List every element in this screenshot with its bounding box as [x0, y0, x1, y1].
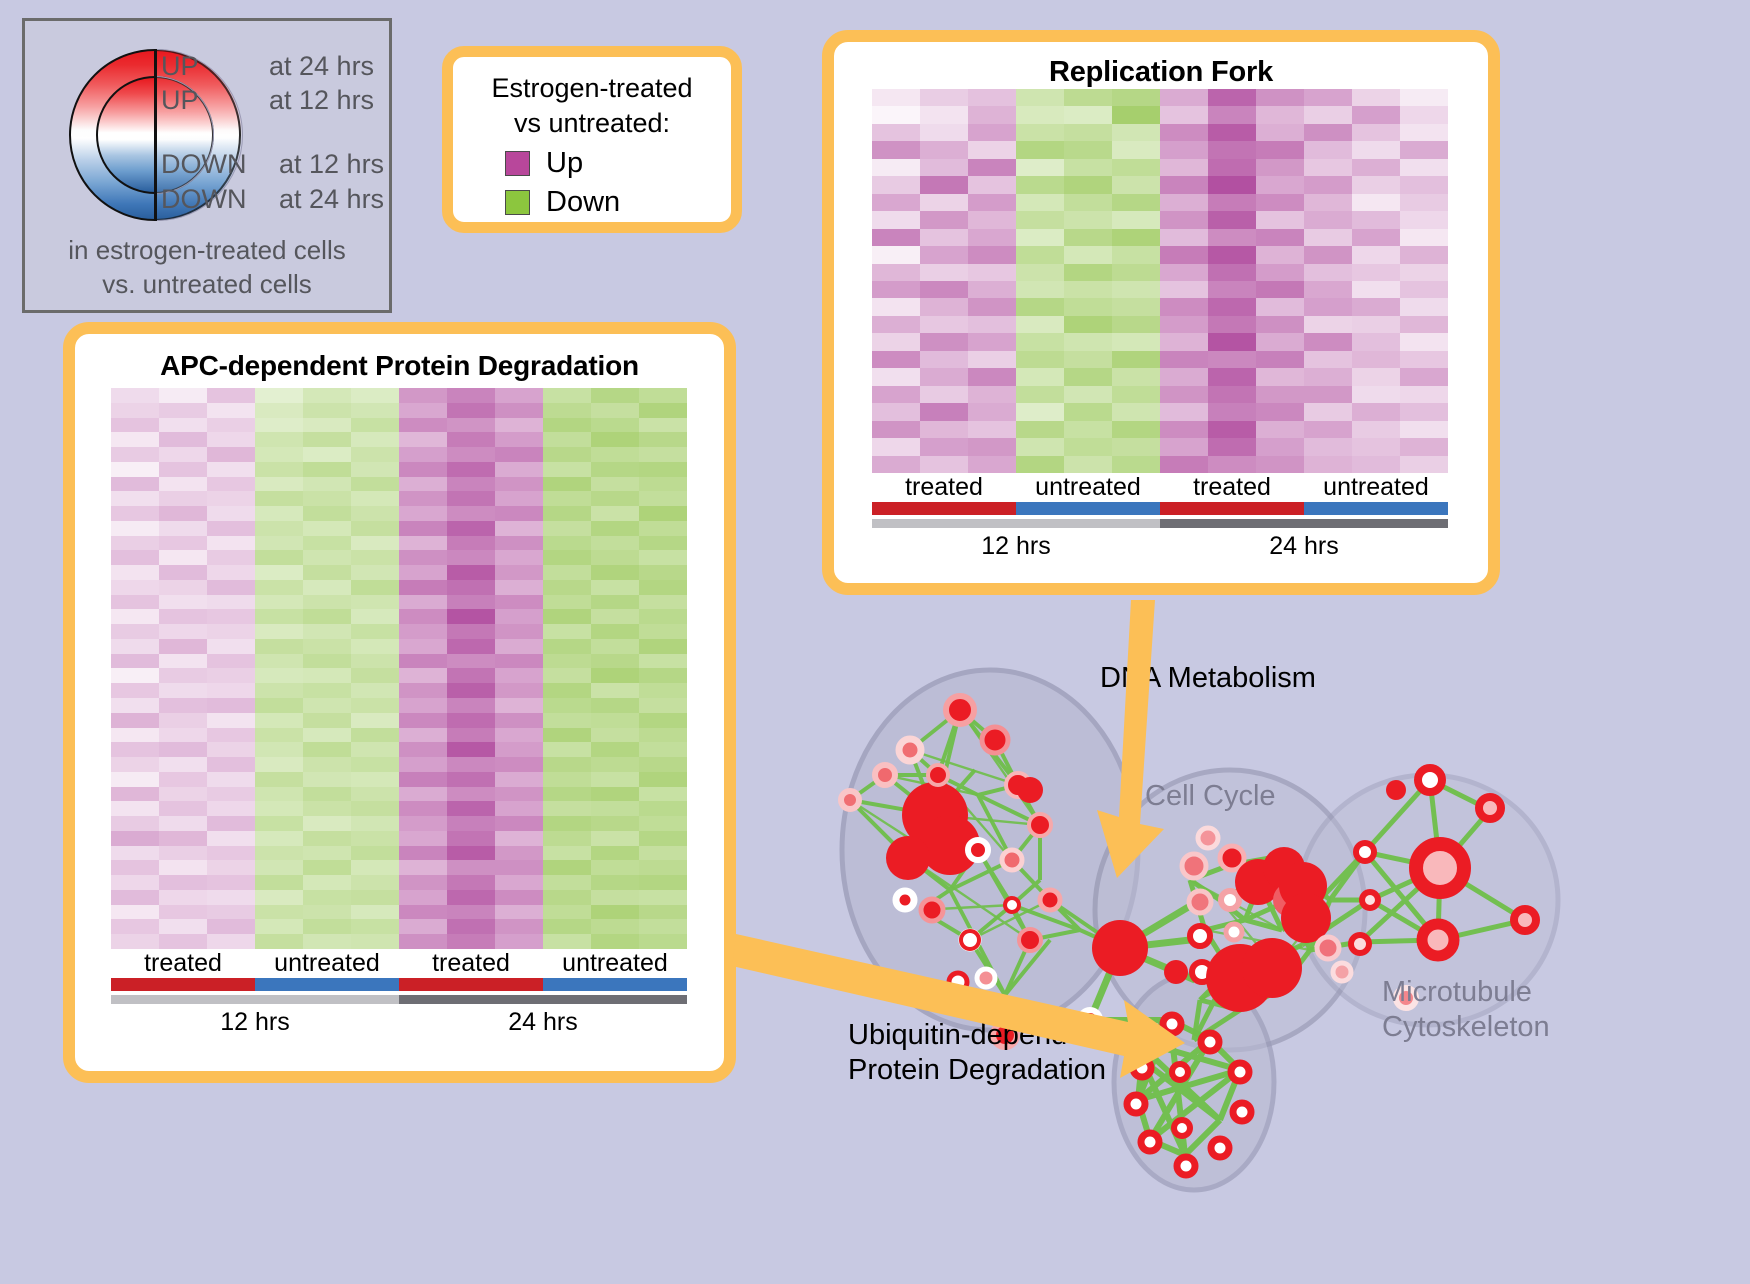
heatmap-cell	[968, 351, 1016, 368]
heatmap-cell	[591, 447, 639, 462]
heatmap-cell	[1064, 316, 1112, 333]
heatmap-cell	[255, 477, 303, 492]
heatmap-cell	[1112, 89, 1160, 106]
panel-apc-dependent-protein-degradation: APC-dependent Protein Degradation treate…	[63, 322, 736, 1083]
heatmap-cell	[111, 846, 159, 861]
heatmap-cell	[207, 742, 255, 757]
cluster-label-microtubule-line1: Microtubule	[1382, 975, 1550, 1010]
heatmap-cell	[399, 698, 447, 713]
heatmap-cell	[1256, 246, 1304, 263]
heatmap-cell	[447, 536, 495, 551]
heatmap-cell	[1304, 264, 1352, 281]
heatmap-cell	[207, 787, 255, 802]
heatmap-cell	[1064, 211, 1112, 228]
heatmap-cell	[1208, 264, 1256, 281]
heatmap-cell	[303, 757, 351, 772]
heatmap-cell	[207, 418, 255, 433]
heatmap-cell	[111, 491, 159, 506]
heatmap-cell	[447, 801, 495, 816]
heatmap-cell	[543, 698, 591, 713]
heatmap-cell	[639, 506, 687, 521]
heatmap-cell	[1352, 368, 1400, 385]
heatmap-cell	[543, 418, 591, 433]
heatmap-cell	[639, 890, 687, 905]
heatmap-cell	[968, 141, 1016, 158]
heatmap-cell	[495, 580, 543, 595]
heatmap-cell	[447, 654, 495, 669]
heatmap-cell	[111, 831, 159, 846]
heatmap-cell	[351, 698, 399, 713]
heatmap-cell	[351, 668, 399, 683]
heatmap-cell	[639, 846, 687, 861]
heatmap-cell	[872, 316, 920, 333]
heatmap-cell	[399, 713, 447, 728]
heatmap-cell	[1160, 176, 1208, 193]
heatmap-cell	[543, 772, 591, 787]
heatmap-cell	[303, 609, 351, 624]
heatmap-cell	[303, 728, 351, 743]
heatmap-cell	[1256, 298, 1304, 315]
ring-caption-line1: in estrogen-treated cells	[25, 233, 389, 267]
heatmap-cell	[968, 124, 1016, 141]
heatmap-cell	[1256, 351, 1304, 368]
heatmap-cell	[207, 550, 255, 565]
heatmap-cell	[255, 698, 303, 713]
heatmap-cell	[399, 580, 447, 595]
heatmap-cell	[1352, 159, 1400, 176]
heatmap-cell	[351, 447, 399, 462]
heatmap-cell	[543, 713, 591, 728]
heatmap-cell	[872, 264, 920, 281]
heatmap-cell	[255, 506, 303, 521]
heatmap-cell	[303, 890, 351, 905]
heatmap-cell	[111, 668, 159, 683]
heatmap-cell	[159, 565, 207, 580]
heatmap-cell	[303, 713, 351, 728]
heatmap-cell	[399, 787, 447, 802]
heatmap-cell	[447, 491, 495, 506]
heatmap-cell	[351, 388, 399, 403]
heatmap-cell	[872, 194, 920, 211]
heatmap-cell	[639, 565, 687, 580]
heatmap-cell	[872, 159, 920, 176]
heatmap-cell	[447, 831, 495, 846]
panel-title-replication-fork: Replication Fork	[834, 42, 1488, 89]
heatmap-cell	[207, 772, 255, 787]
heatmap-cell	[111, 447, 159, 462]
heatmap-cell	[1160, 368, 1208, 385]
heatmap-cell	[159, 846, 207, 861]
heatmap-cell	[255, 462, 303, 477]
heatmap-cell	[303, 742, 351, 757]
heatmap-cell	[111, 683, 159, 698]
heatmap-cell	[399, 728, 447, 743]
key-title-line2: vs untreated:	[453, 106, 731, 141]
heatmap-cell	[1400, 194, 1448, 211]
heatmap-cell	[1016, 229, 1064, 246]
heatmap-cell	[159, 403, 207, 418]
heatmap-cell	[495, 919, 543, 934]
heatmap-cell	[447, 668, 495, 683]
heatmap-cell	[159, 580, 207, 595]
heatmap-cell	[207, 609, 255, 624]
heatmap-cell	[1400, 333, 1448, 350]
heatmap-cell	[1304, 386, 1352, 403]
heatmap-cell	[543, 787, 591, 802]
heatmap-cell	[543, 654, 591, 669]
heatmap-cell	[207, 654, 255, 669]
heatmap-cell	[1256, 386, 1304, 403]
heatmap-cell	[303, 683, 351, 698]
heatmap-cell	[1160, 421, 1208, 438]
heatmap-cell	[495, 550, 543, 565]
heatmap-cell	[1208, 316, 1256, 333]
heatmap-cell	[303, 846, 351, 861]
heatmap-cell	[1352, 316, 1400, 333]
heatmap-cell	[1208, 141, 1256, 158]
heatmap-cell	[591, 934, 639, 949]
heatmap-cell	[255, 728, 303, 743]
heatmap-cell	[1304, 246, 1352, 263]
heatmap-cell	[1016, 246, 1064, 263]
heatmap-cell	[447, 432, 495, 447]
heatmap-cell	[255, 521, 303, 536]
treatment-bar-segment	[1016, 502, 1160, 515]
treatment-bar-segment	[1304, 502, 1448, 515]
protein-interaction-network: DNA Metabolism Cell Cycle Microtubule Cy…	[790, 600, 1750, 1279]
heatmap-cell	[1304, 351, 1352, 368]
heatmap-cell	[591, 801, 639, 816]
heatmap-cell	[303, 418, 351, 433]
heatmap-cell	[303, 388, 351, 403]
heatmap-cell	[872, 421, 920, 438]
heatmap-cell	[872, 106, 920, 123]
heatmap-cell	[447, 521, 495, 536]
heatmap-cell	[159, 418, 207, 433]
heatmap-cell	[255, 772, 303, 787]
heatmap-cell	[639, 639, 687, 654]
heatmap-cell	[159, 447, 207, 462]
heatmap-cell	[255, 609, 303, 624]
heatmap-cell	[495, 447, 543, 462]
key-label-down: Down	[546, 186, 620, 219]
heatmap-cell	[495, 728, 543, 743]
heatmap-cell	[1256, 141, 1304, 158]
heatmap-cell	[495, 491, 543, 506]
heatmap-cell	[1256, 403, 1304, 420]
heatmap-cell	[111, 890, 159, 905]
heatmap-cell	[207, 801, 255, 816]
heatmap-cell	[159, 683, 207, 698]
heatmap-cell	[543, 447, 591, 462]
heatmap-cell	[1400, 456, 1448, 473]
heatmap-cell	[1208, 124, 1256, 141]
heatmap-cell	[543, 919, 591, 934]
heatmap-cell	[920, 194, 968, 211]
group-label: untreated	[1016, 473, 1160, 502]
heatmap-cell	[255, 846, 303, 861]
heatmap-cell	[255, 432, 303, 447]
heatmap-cell	[543, 595, 591, 610]
heatmap-cell	[255, 742, 303, 757]
heatmap-cell	[872, 176, 920, 193]
heatmap-cell	[255, 654, 303, 669]
heatmap-cell	[159, 521, 207, 536]
heatmap-cell	[872, 211, 920, 228]
heatmap-cell	[543, 432, 591, 447]
heatmap-cell	[1400, 316, 1448, 333]
heatmap-cell	[255, 860, 303, 875]
heatmap-cell	[1400, 89, 1448, 106]
heatmap-cell	[111, 506, 159, 521]
heatmap-cell	[639, 477, 687, 492]
heatmap-cell	[543, 550, 591, 565]
heatmap-cell	[303, 491, 351, 506]
heatmap-cell	[920, 211, 968, 228]
heatmap-cell	[351, 477, 399, 492]
heatmap-cell	[1304, 438, 1352, 455]
heatmap-cell	[920, 438, 968, 455]
heatmap-cell	[303, 801, 351, 816]
heatmap-cell	[399, 683, 447, 698]
heatmap-cell	[351, 550, 399, 565]
heatmap-cell	[639, 654, 687, 669]
group-label: untreated	[543, 949, 687, 978]
heatmap-cell	[1208, 281, 1256, 298]
heatmap-cell	[399, 521, 447, 536]
heatmap-cell	[351, 506, 399, 521]
heatmap-cell	[207, 403, 255, 418]
heatmap-cell	[1208, 403, 1256, 420]
heatmap-cell	[207, 477, 255, 492]
heatmap-cell	[495, 713, 543, 728]
heatmap-cell	[495, 905, 543, 920]
heatmap-cell	[303, 639, 351, 654]
heatmap-cell	[303, 477, 351, 492]
heatmap-cell	[872, 456, 920, 473]
group-label: untreated	[1304, 473, 1448, 502]
heatmap-cell	[1064, 368, 1112, 385]
heatmap-cell	[1112, 194, 1160, 211]
heatmap-cell	[1400, 421, 1448, 438]
heatmap-cell	[1352, 124, 1400, 141]
heatmap-cell	[495, 595, 543, 610]
heatmap-cell	[495, 432, 543, 447]
heatmap-cell	[1160, 194, 1208, 211]
heatmap-cell	[1352, 403, 1400, 420]
heatmap-cell	[1256, 211, 1304, 228]
heatmap-cell	[159, 742, 207, 757]
key-row-up: Up	[505, 147, 731, 180]
heatmap-cell	[399, 919, 447, 934]
heatmap-cell	[207, 668, 255, 683]
heatmap-cell	[639, 447, 687, 462]
heatmap-cell	[872, 246, 920, 263]
heatmap-cell	[447, 403, 495, 418]
heatmap-cell	[207, 698, 255, 713]
heatmap-cell	[111, 595, 159, 610]
heatmap-cell	[1160, 316, 1208, 333]
heatmap-cell	[111, 919, 159, 934]
heatmap-cell	[1256, 333, 1304, 350]
heatmap-cell	[1352, 438, 1400, 455]
heatmap-cell	[111, 875, 159, 890]
heatmap-cell	[920, 403, 968, 420]
heatmap-cell	[639, 919, 687, 934]
heatmap-cell	[920, 176, 968, 193]
heatmap-cell	[1352, 351, 1400, 368]
heatmap-cell	[968, 438, 1016, 455]
heatmap-cell	[495, 772, 543, 787]
heatmap-cell	[351, 580, 399, 595]
heatmap-cell	[159, 462, 207, 477]
heatmap-cell	[968, 403, 1016, 420]
heatmap-cell	[1064, 89, 1112, 106]
heatmap-cell	[639, 728, 687, 743]
heatmap-cell	[447, 919, 495, 934]
heatmap-cell	[920, 281, 968, 298]
heatmap-cell	[543, 639, 591, 654]
heatmap-cell	[111, 816, 159, 831]
heatmap-cell	[447, 698, 495, 713]
heatmap-cell	[543, 668, 591, 683]
cluster-label-microtubule-cytoskeleton: Microtubule Cytoskeleton	[1382, 975, 1550, 1046]
heatmap-cell	[872, 229, 920, 246]
heatmap-cell	[495, 890, 543, 905]
heatmap-cell	[1304, 141, 1352, 158]
heatmap-cell	[1208, 438, 1256, 455]
cluster-label-dna-metabolism: DNA Metabolism	[1100, 662, 1316, 695]
heatmap-cell	[1112, 264, 1160, 281]
heatmap-cell	[1112, 298, 1160, 315]
heatmap-cell	[1160, 281, 1208, 298]
heatmap-cell	[1256, 89, 1304, 106]
heatmap-cell	[1112, 386, 1160, 403]
heatmap-cell	[303, 580, 351, 595]
heatmap-cell	[1352, 194, 1400, 211]
heatmap-cell	[543, 403, 591, 418]
heatmap-cell	[591, 713, 639, 728]
heatmap-cell	[207, 580, 255, 595]
heatmap-cell	[159, 934, 207, 949]
heatmap-cell	[111, 609, 159, 624]
heatmap-cell	[111, 418, 159, 433]
heatmap-cell	[1400, 351, 1448, 368]
heatmap-cell	[1352, 456, 1400, 473]
heatmap-cell	[1016, 386, 1064, 403]
heatmap-cell	[351, 787, 399, 802]
treatment-bar-segment	[111, 978, 255, 991]
heatmap-cell	[639, 580, 687, 595]
heatmap-cell	[591, 536, 639, 551]
heatmap-cell	[159, 506, 207, 521]
heatmap-cell	[1112, 106, 1160, 123]
heatmap-cell	[591, 875, 639, 890]
heatmap-cell	[1304, 211, 1352, 228]
heatmap-cell	[591, 772, 639, 787]
treatment-bar-segment	[399, 978, 543, 991]
heatmap-cell	[872, 403, 920, 420]
heatmap-cell	[872, 333, 920, 350]
heatmap-cell	[447, 875, 495, 890]
heatmap-cell	[639, 772, 687, 787]
heatmap-cell	[1208, 456, 1256, 473]
heatmap-cell	[591, 477, 639, 492]
heatmap-cell	[351, 639, 399, 654]
heatmap-cell	[159, 713, 207, 728]
heatmap-cell	[872, 281, 920, 298]
heatmap-cell	[920, 368, 968, 385]
group-label: treated	[1160, 473, 1304, 502]
heatmap-cell	[872, 386, 920, 403]
heatmap-cell	[1064, 298, 1112, 315]
heatmap-cell	[1352, 421, 1400, 438]
heatmap-cell	[159, 728, 207, 743]
heatmap-cell	[1352, 211, 1400, 228]
heatmap-cell	[111, 536, 159, 551]
timepoint-labels-replication-fork: 12 hrs24 hrs	[872, 528, 1448, 561]
heatmap-cell	[920, 316, 968, 333]
heatmap-cell	[1400, 281, 1448, 298]
heatmap-cell	[399, 816, 447, 831]
heatmap-cell	[1304, 456, 1352, 473]
heatmap-cell	[159, 491, 207, 506]
heatmap-cell	[1208, 194, 1256, 211]
heatmap-cell	[255, 624, 303, 639]
heatmap-cell	[207, 713, 255, 728]
heatmap-cell	[111, 403, 159, 418]
heatmap-cell	[207, 816, 255, 831]
heatmap-cell	[591, 639, 639, 654]
heatmap-cell	[207, 432, 255, 447]
key-title: Estrogen-treated vs untreated:	[453, 71, 731, 141]
heatmap-cell	[1304, 194, 1352, 211]
timepoint-labels-apc: 12 hrs24 hrs	[111, 1004, 687, 1037]
heatmap-cell	[1160, 141, 1208, 158]
heatmap-cell	[399, 536, 447, 551]
heatmap-cell	[1064, 106, 1112, 123]
heatmap-cell	[207, 624, 255, 639]
group-label: untreated	[255, 949, 399, 978]
heatmap-cell	[591, 668, 639, 683]
heatmap-cell	[639, 875, 687, 890]
heatmap-cell	[591, 846, 639, 861]
heatmap-cell	[1016, 194, 1064, 211]
heatmap-cell	[351, 713, 399, 728]
heatmap-cell	[207, 521, 255, 536]
panel-title-apc: APC-dependent Protein Degradation	[75, 334, 724, 382]
heatmap-cell	[1064, 333, 1112, 350]
heatmap-cell	[543, 890, 591, 905]
heatmap-cell	[968, 211, 1016, 228]
heatmap-cell	[639, 860, 687, 875]
heatmap-cell	[159, 595, 207, 610]
ring-label-down-24: DOWN	[161, 184, 246, 215]
heatmap-cell	[1112, 403, 1160, 420]
heatmap-cell	[111, 801, 159, 816]
heatmap-cell	[111, 639, 159, 654]
heatmap-cell	[1400, 403, 1448, 420]
heatmap-cell	[159, 654, 207, 669]
heatmap-cell	[1016, 159, 1064, 176]
heatmap-cell	[255, 890, 303, 905]
heatmap-cell	[1208, 176, 1256, 193]
heatmap-cell	[968, 159, 1016, 176]
heatmap-cell	[1064, 124, 1112, 141]
heatmap-cell	[543, 477, 591, 492]
cluster-label-ubiquitin-line1: Ubiquitin-dependent	[848, 1018, 1108, 1053]
heatmap-cell	[255, 418, 303, 433]
